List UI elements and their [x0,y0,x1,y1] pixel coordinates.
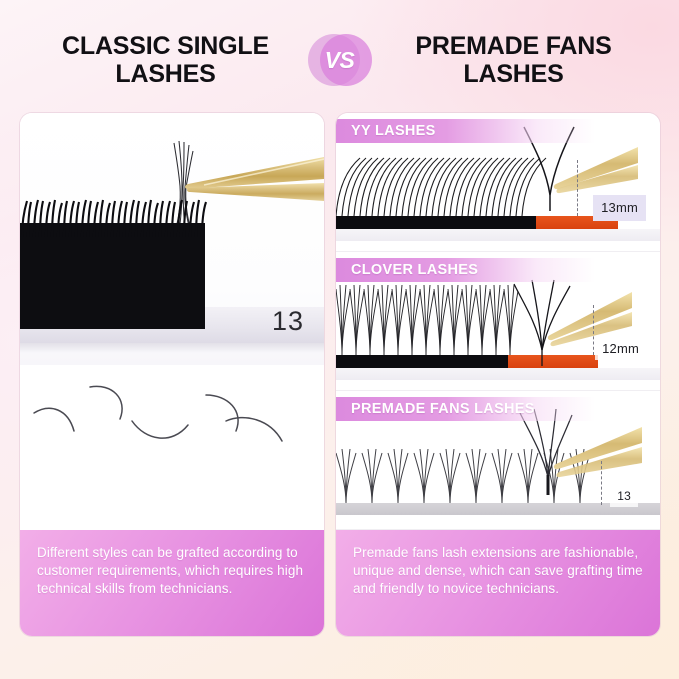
clover-lash-fibers [336,283,521,355]
clover-strip-base [336,355,508,368]
curved-lash-strokes [20,365,324,525]
premade-fans-section: PREMADE FANS LASHES [336,391,660,530]
yy-lashes-banner: YY LASHES [336,119,660,143]
yy-shelf [336,229,660,241]
yy-measure-guide [577,160,578,216]
classic-lashes-caption: Different styles can be grafted accordin… [20,530,324,636]
lash-fibers [20,199,210,237]
header: CLASSIC SINGLE LASHES VS PREMADE FANS LA… [0,24,679,96]
premade-measure-guide [601,461,602,505]
clover-measurement-badge: 12mm [595,337,646,360]
lash-block [20,223,205,329]
right-panel-title: PREMADE FANS LASHES [378,32,650,88]
individual-lashes-photo [20,365,324,530]
clover-measure-guide [593,305,594,355]
left-panel-title: CLASSIC SINGLE LASHES [30,32,302,88]
yy-lashes-section: YY LASHES [336,113,660,252]
premade-fans-label: PREMADE FANS LASHES [336,401,535,417]
yy-lash-fibers [336,150,548,216]
vs-label: VS [325,47,355,74]
clover-lashes-label: CLOVER LASHES [336,262,478,278]
premade-measurement-badge: 13 [610,485,638,507]
lash-length-label: 13 [272,306,304,337]
premade-fans-lashes-panel: YY LASHES [336,113,660,636]
yy-lashes-label: YY LASHES [336,123,436,139]
classic-lashes-photo: 13 [20,113,324,530]
yy-measurement-badge: 13mm [593,195,646,221]
classic-single-lashes-panel: 13 Different styles can be grafted accor… [20,113,324,636]
clover-lashes-banner: CLOVER LASHES [336,258,660,282]
premade-fans-banner: PREMADE FANS LASHES [336,397,660,421]
premade-fans-caption: Premade fans lash extensions are fashion… [336,530,660,636]
clover-lashes-section: CLOVER LASHES [336,252,660,391]
classic-lash-strip-photo: 13 [20,113,324,365]
vs-badge: VS [308,34,372,86]
comparison-infographic: CLASSIC SINGLE LASHES VS PREMADE FANS LA… [0,0,679,679]
yy-strip-base [336,216,536,229]
